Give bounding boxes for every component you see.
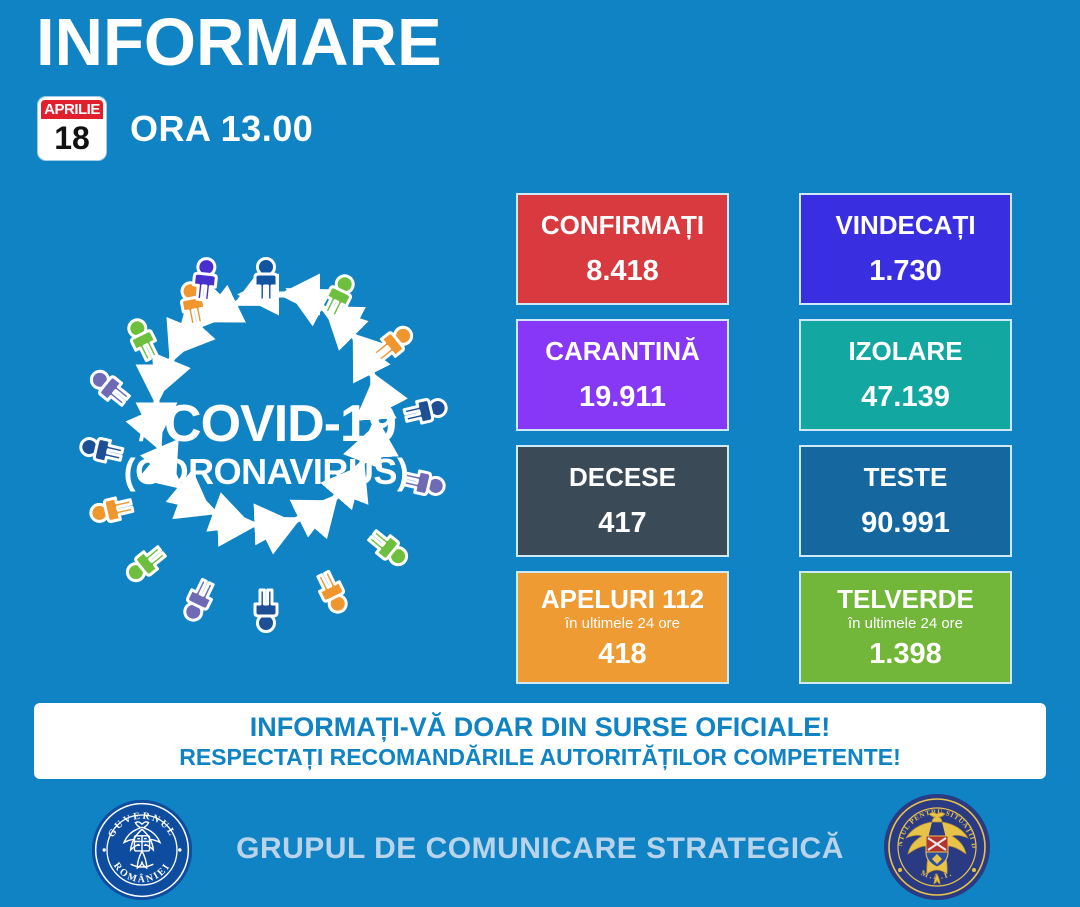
covid-distancing-graphic: #COVID-19 (CORONAVIRUS) [36, 228, 496, 688]
stat-telverde: TELVERDE în ultimele 24 ore 1.398 [799, 571, 1012, 684]
notice-line-1: INFORMAȚI-VĂ DOAR DIN SURSE OFICIALE! [250, 711, 831, 743]
stats-row: CARANTINĂ 19.911 IZOLARE 47.139 [516, 319, 1012, 431]
stats-row: CONFIRMAȚI 8.418 VINDECAȚI 1.730 [516, 193, 1012, 305]
stat-value: 418 [598, 637, 646, 671]
dsu-mai-seal-icon: DEPARTAMENTUL PENTRU SITUAȚII DE URGENȚĂ… [882, 792, 992, 902]
calendar-month: APRILIE [41, 100, 103, 119]
stat-decese: DECESE 417 [516, 445, 729, 557]
stat-carantina: CARANTINĂ 19.911 [516, 319, 729, 431]
stat-value: 8.418 [586, 254, 659, 288]
stat-label: DECESE [569, 462, 676, 492]
stat-vindecati: VINDECAȚI 1.730 [799, 193, 1012, 305]
calendar-day: 18 [41, 119, 103, 157]
notice-line-2: RESPECTAȚI RECOMANDĂRILE AUTORITĂȚILOR C… [179, 743, 901, 771]
stat-value: 1.398 [869, 637, 942, 671]
stat-label: TESTE [864, 462, 948, 492]
stat-label: TELVERDE [837, 584, 974, 614]
infographic-root: INFORMARE APRILIE 18 ORA 13.00 [0, 0, 1080, 907]
report-time: ORA 13.00 [130, 108, 313, 150]
stat-label: CARANTINĂ [545, 336, 700, 366]
stat-value: 19.911 [579, 380, 666, 414]
stat-value: 90.991 [861, 506, 950, 540]
stat-label: CONFIRMAȚI [541, 210, 704, 240]
stat-izolare: IZOLARE 47.139 [799, 319, 1012, 431]
page-title: INFORMARE [36, 8, 442, 78]
stat-value: 47.139 [861, 380, 950, 414]
stats-row: APELURI 112 în ultimele 24 ore 418 TELVE… [516, 571, 1012, 684]
stats-row: DECESE 417 TESTE 90.991 [516, 445, 1012, 557]
calendar-icon: APRILIE 18 [38, 97, 106, 160]
stat-value: 417 [598, 506, 646, 540]
stat-apeluri-112: APELURI 112 în ultimele 24 ore 418 [516, 571, 729, 684]
stats-grid: CONFIRMAȚI 8.418 VINDECAȚI 1.730 CARANTI… [516, 193, 1012, 698]
people-distancing-circle-icon [36, 228, 496, 688]
stat-sublabel: în ultimele 24 ore [565, 615, 680, 633]
stat-label: APELURI 112 [541, 584, 704, 614]
official-sources-notice: INFORMAȚI-VĂ DOAR DIN SURSE OFICIALE! RE… [34, 703, 1046, 779]
stat-label: IZOLARE [848, 336, 962, 366]
stat-label: VINDECAȚI [835, 210, 975, 240]
stat-confirmati: CONFIRMAȚI 8.418 [516, 193, 729, 305]
stat-teste: TESTE 90.991 [799, 445, 1012, 557]
stat-value: 1.730 [869, 254, 942, 288]
date-time-bar: APRILIE 18 ORA 13.00 [38, 97, 313, 160]
guvernul-romaniei-seal-icon: GUVERNUL ROMÂNIEI [88, 798, 196, 902]
stat-sublabel: în ultimele 24 ore [848, 615, 963, 633]
